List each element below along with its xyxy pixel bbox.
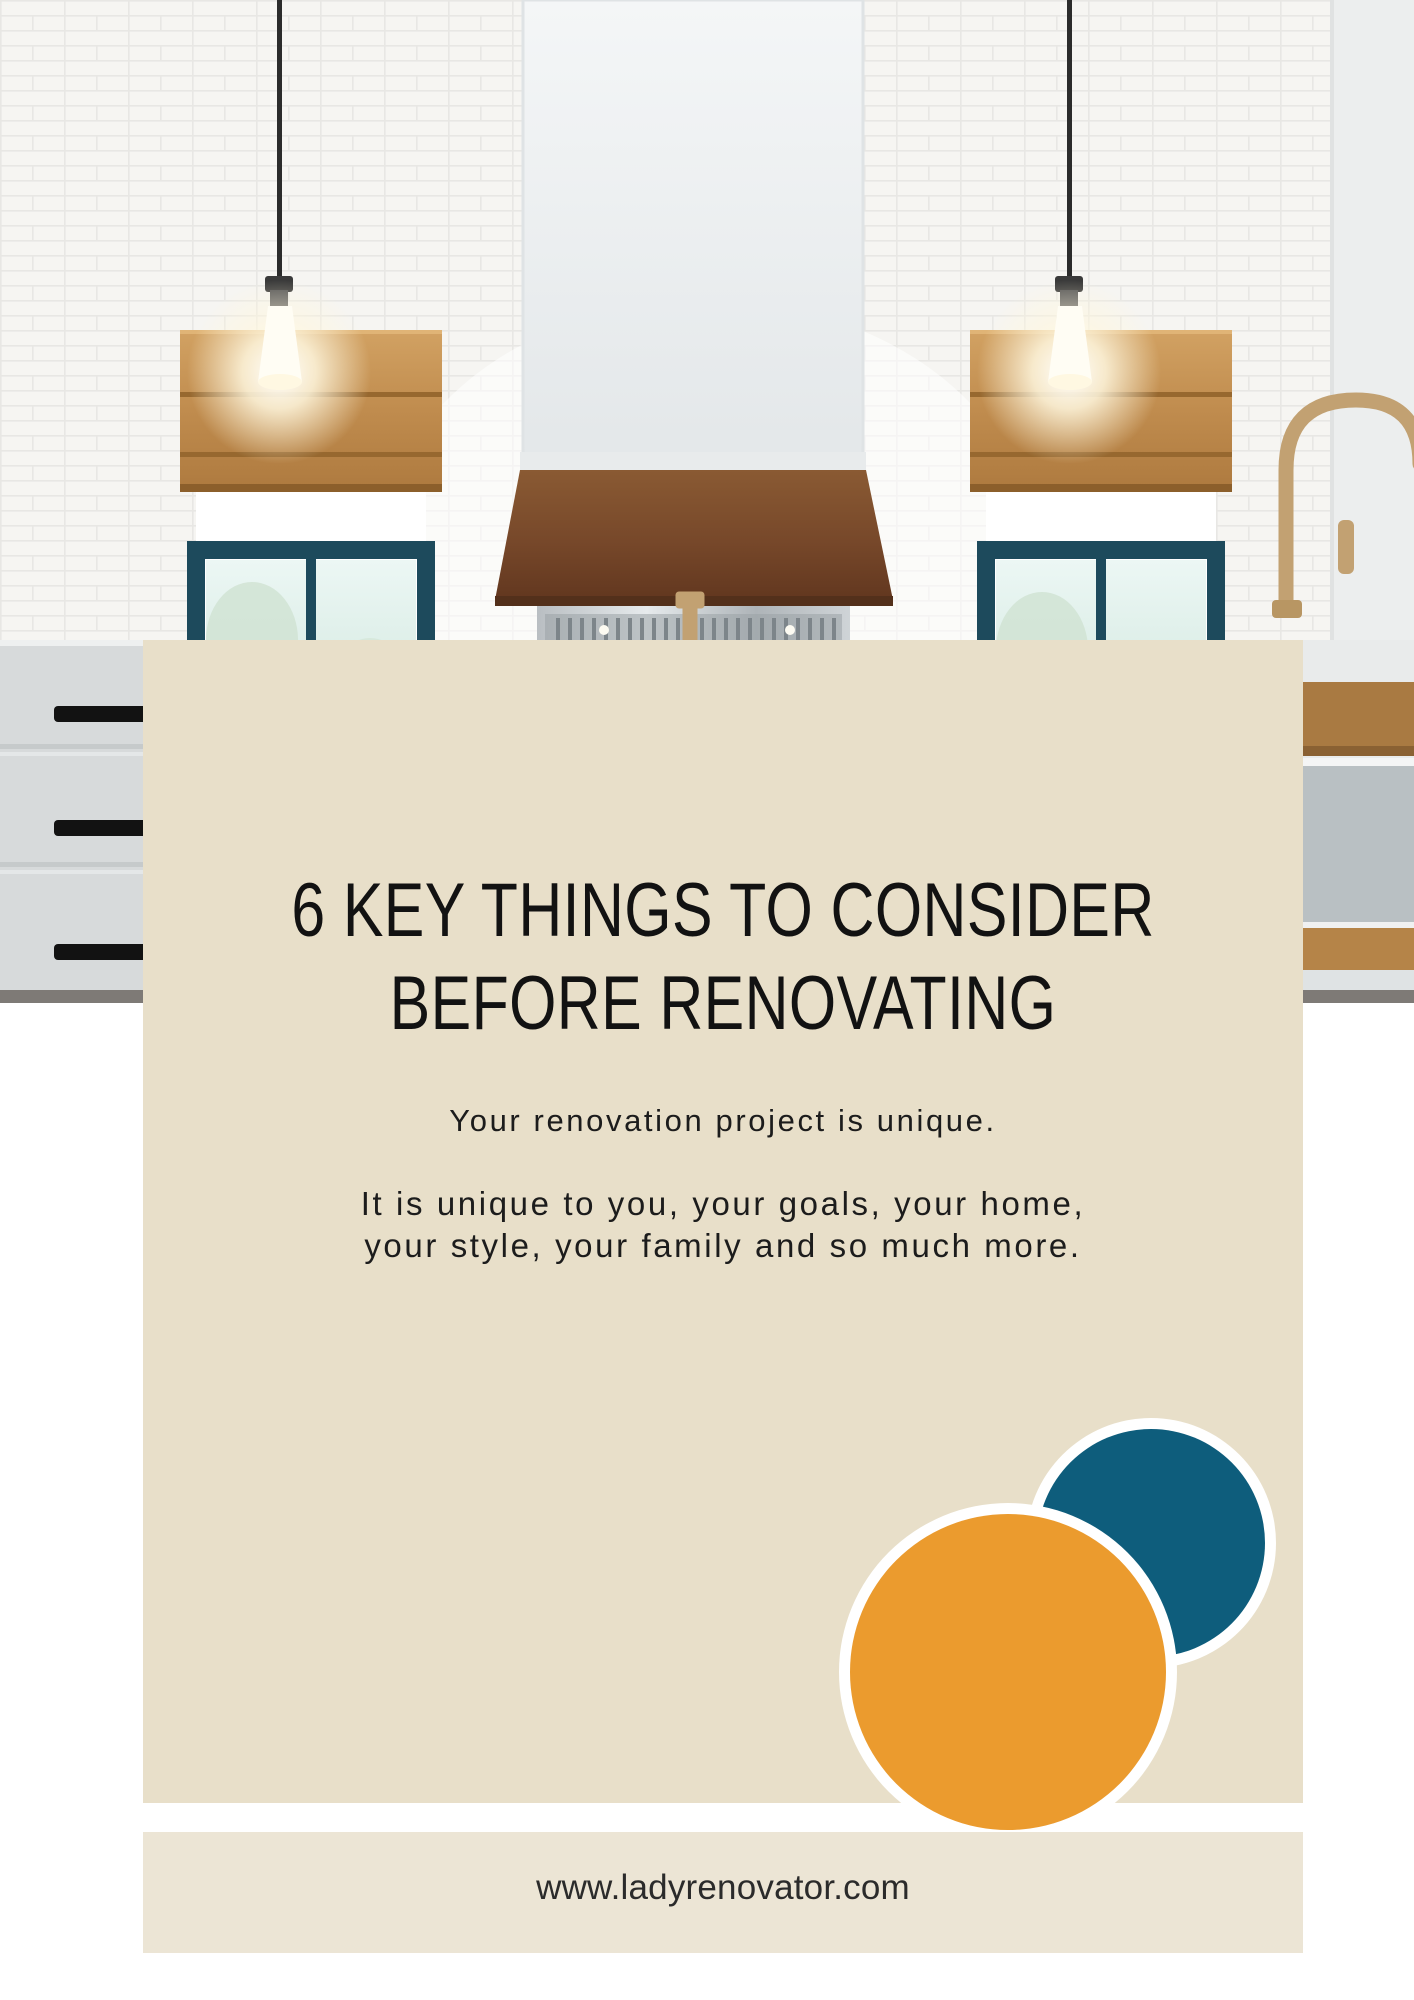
content-panel: 6 KEY THINGS TO CONSIDER BEFORE RENOVATI… — [143, 640, 1303, 1803]
page-title: 6 KEY THINGS TO CONSIDER BEFORE RENOVATI… — [143, 865, 1303, 1050]
lead-paragraph: Your renovation project is unique. — [143, 1100, 1303, 1142]
footer-bar: www.ladyrenovator.com — [143, 1832, 1303, 1953]
sub-paragraph-line-2: your style, your family and so much more… — [143, 1225, 1303, 1267]
website-url[interactable]: www.ladyrenovator.com — [143, 1868, 1303, 1908]
sub-paragraph: It is unique to you, your goals, your ho… — [143, 1183, 1303, 1267]
poster-canvas: 6 KEY THINGS TO CONSIDER BEFORE RENOVATI… — [0, 0, 1414, 2000]
sub-paragraph-line-1: It is unique to you, your goals, your ho… — [143, 1183, 1303, 1225]
title-line-1: 6 KEY THINGS TO CONSIDER — [259, 865, 1187, 958]
title-line-2: BEFORE RENOVATING — [259, 958, 1187, 1051]
